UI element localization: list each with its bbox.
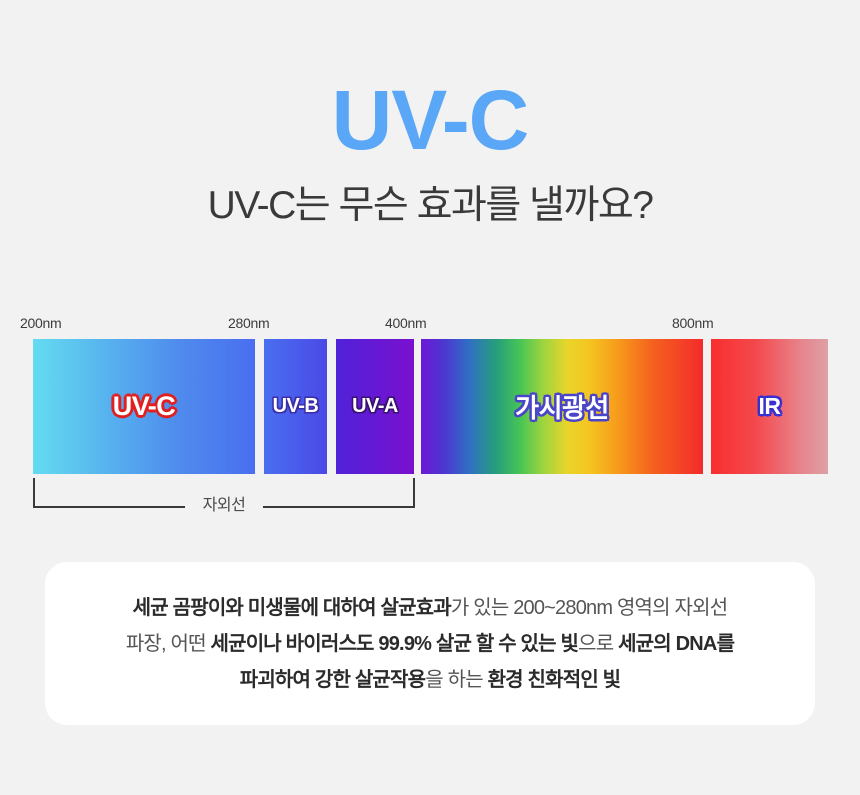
description-card: 세균 곰팡이와 미생물에 대하여 살균효과가 있는 200~280nm 영역의 … [45, 562, 815, 725]
description-line-2-normal-a: 파장, 어떤 [126, 633, 211, 655]
bracket-line-left [33, 506, 185, 508]
description-line-1: 세균 곰팡이와 미생물에 대하여 살균효과가 있는 200~280nm 영역의 … [133, 590, 728, 626]
spectrum-band-visible: 가시광선 [421, 339, 703, 474]
wavelength-label-400nm: 400nm [385, 315, 426, 331]
spectrum-band-label-uv-a: UV-A [352, 395, 398, 418]
spectrum-band-label-uv-b: UV-B [273, 395, 319, 418]
description-line-2-bold-b: 세균의 DNA를 [618, 633, 734, 655]
spectrum-band-uv-b: UV-B [264, 339, 327, 474]
ultraviolet-range-bracket: 자외선 [33, 478, 415, 510]
wavelength-label-280nm: 280nm [228, 315, 269, 331]
wavelength-label-800nm: 800nm [672, 315, 713, 331]
description-line-2-bold-a: 세균이나 바이러스도 99.9% 살균 할 수 있는 빛 [211, 633, 579, 655]
wavelength-label-200nm: 200nm [20, 315, 61, 331]
spectrum-band-uv-c: UV-C [33, 339, 255, 474]
bracket-label-ultraviolet: 자외선 [195, 491, 254, 515]
description-line-3-bold-a: 파괴하여 강한 살균작용 [240, 669, 426, 691]
header: UV-C UV-C는 무슨 효과를 낼까요? [0, 0, 860, 225]
description-line-3-normal: 을 하는 [425, 669, 487, 691]
spectrum-diagram: 200nm 280nm 400nm 800nm UV-C UV-B UV-A 가… [0, 315, 860, 530]
bracket-tick-right [413, 478, 415, 508]
description-line-2: 파장, 어떤 세균이나 바이러스도 99.9% 살균 할 수 있는 빛으로 세균… [126, 626, 734, 662]
page-title: UV-C [0, 0, 860, 162]
spectrum-band-label-ir: IR [759, 393, 781, 420]
bracket-line-right [263, 506, 415, 508]
description-line-3-bold-b: 환경 친화적인 빛 [488, 669, 621, 691]
spectrum-band-uv-a: UV-A [336, 339, 414, 474]
spectrum-band-label-uv-c: UV-C [113, 391, 176, 422]
description-line-1-normal: 가 있는 200~280nm 영역의 자외선 [451, 597, 727, 619]
spectrum-band-label-visible: 가시광선 [515, 388, 609, 425]
description-line-2-normal-b: 으로 [578, 633, 618, 655]
description-line-1-bold: 세균 곰팡이와 미생물에 대하여 살균효과 [133, 597, 451, 619]
spectrum-band-ir: IR [711, 339, 828, 474]
bracket-tick-left [33, 478, 35, 508]
page-subtitle: UV-C는 무슨 효과를 낼까요? [0, 162, 860, 225]
description-line-3: 파괴하여 강한 살균작용을 하는 환경 친화적인 빛 [240, 662, 621, 698]
